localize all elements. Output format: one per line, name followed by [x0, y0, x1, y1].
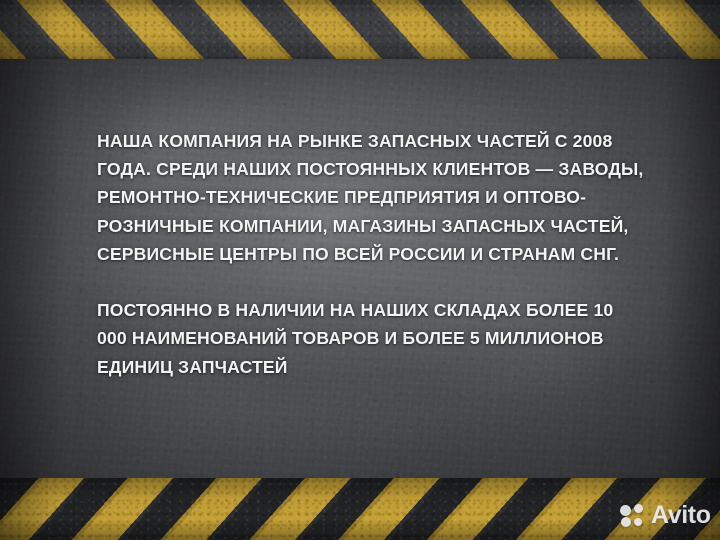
promo-paragraph-1: НАША КОМПАНИЯ НА РЫНКЕ ЗАПАСНЫХ ЧАСТЕЙ С… [97, 127, 645, 268]
avito-dot-medium-bottom-left [621, 517, 631, 527]
hazard-stripe-band-top [0, 0, 720, 59]
avito-dot-medium-top-right [634, 504, 643, 513]
avito-wordmark: Avito [651, 503, 711, 528]
hazard-stripe-band-bottom [0, 478, 720, 540]
hazard-edge-shadow [0, 0, 720, 59]
avito-dot-large-top-left [620, 505, 631, 516]
promo-copy-block: НАША КОМПАНИЯ НА РЫНКЕ ЗАПАСНЫХ ЧАСТЕЙ С… [97, 127, 645, 381]
avito-dot-small-bottom-right [634, 518, 642, 526]
avito-watermark: Avito [620, 503, 711, 528]
banner-image: НАША КОМПАНИЯ НА РЫНКЕ ЗАПАСНЫХ ЧАСТЕЙ С… [0, 0, 720, 540]
hazard-edge-shadow [0, 478, 720, 540]
avito-dots-icon [620, 504, 646, 528]
promo-paragraph-2: ПОСТОЯННО В НАЛИЧИИ НА НАШИХ СКЛАДАХ БОЛ… [97, 296, 645, 381]
